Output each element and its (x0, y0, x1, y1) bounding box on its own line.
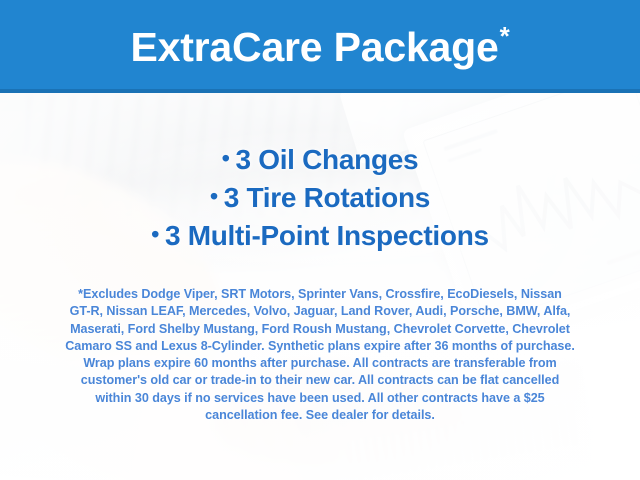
bullet-icon: • (151, 221, 159, 247)
benefit-label: 3 Oil Changes (235, 144, 418, 175)
disclaimer-text: *Excludes Dodge Viper, SRT Motors, Sprin… (26, 286, 614, 424)
disclaimer-line: Wrap plans expire 60 months after purcha… (26, 355, 614, 372)
title-asterisk: * (500, 21, 510, 51)
page-title-text: ExtraCare Package (130, 24, 498, 70)
list-item: •3 Multi-Point Inspections (0, 216, 640, 254)
disclaimer-line: cancellation fee. See dealer for details… (26, 407, 614, 424)
header-banner: ExtraCare Package* (0, 0, 640, 93)
disclaimer-line: *Excludes Dodge Viper, SRT Motors, Sprin… (26, 286, 614, 303)
disclaimer-line: Maserati, Ford Shelby Mustang, Ford Rous… (26, 321, 614, 338)
list-item: •3 Oil Changes (0, 140, 640, 178)
disclaimer-line: GT-R, Nissan LEAF, Mercedes, Volvo, Jagu… (26, 303, 614, 320)
benefit-label: 3 Tire Rotations (224, 182, 430, 213)
disclaimer-line: customer's old car or trade-in to their … (26, 372, 614, 389)
benefits-list: •3 Oil Changes •3 Tire Rotations •3 Mult… (0, 140, 640, 254)
benefit-label: 3 Multi-Point Inspections (165, 220, 489, 251)
disclaimer-line: within 30 days if no services have been … (26, 390, 614, 407)
list-item: •3 Tire Rotations (0, 178, 640, 216)
extracare-package-ad: ExtraCare Package* •3 Oil Changes •3 Tir… (0, 0, 640, 480)
bullet-icon: • (210, 183, 218, 209)
page-title: ExtraCare Package* (130, 23, 509, 71)
disclaimer-line: Camaro SS and Lexus 8-Cylinder. Syntheti… (26, 338, 614, 355)
bullet-icon: • (222, 145, 230, 171)
